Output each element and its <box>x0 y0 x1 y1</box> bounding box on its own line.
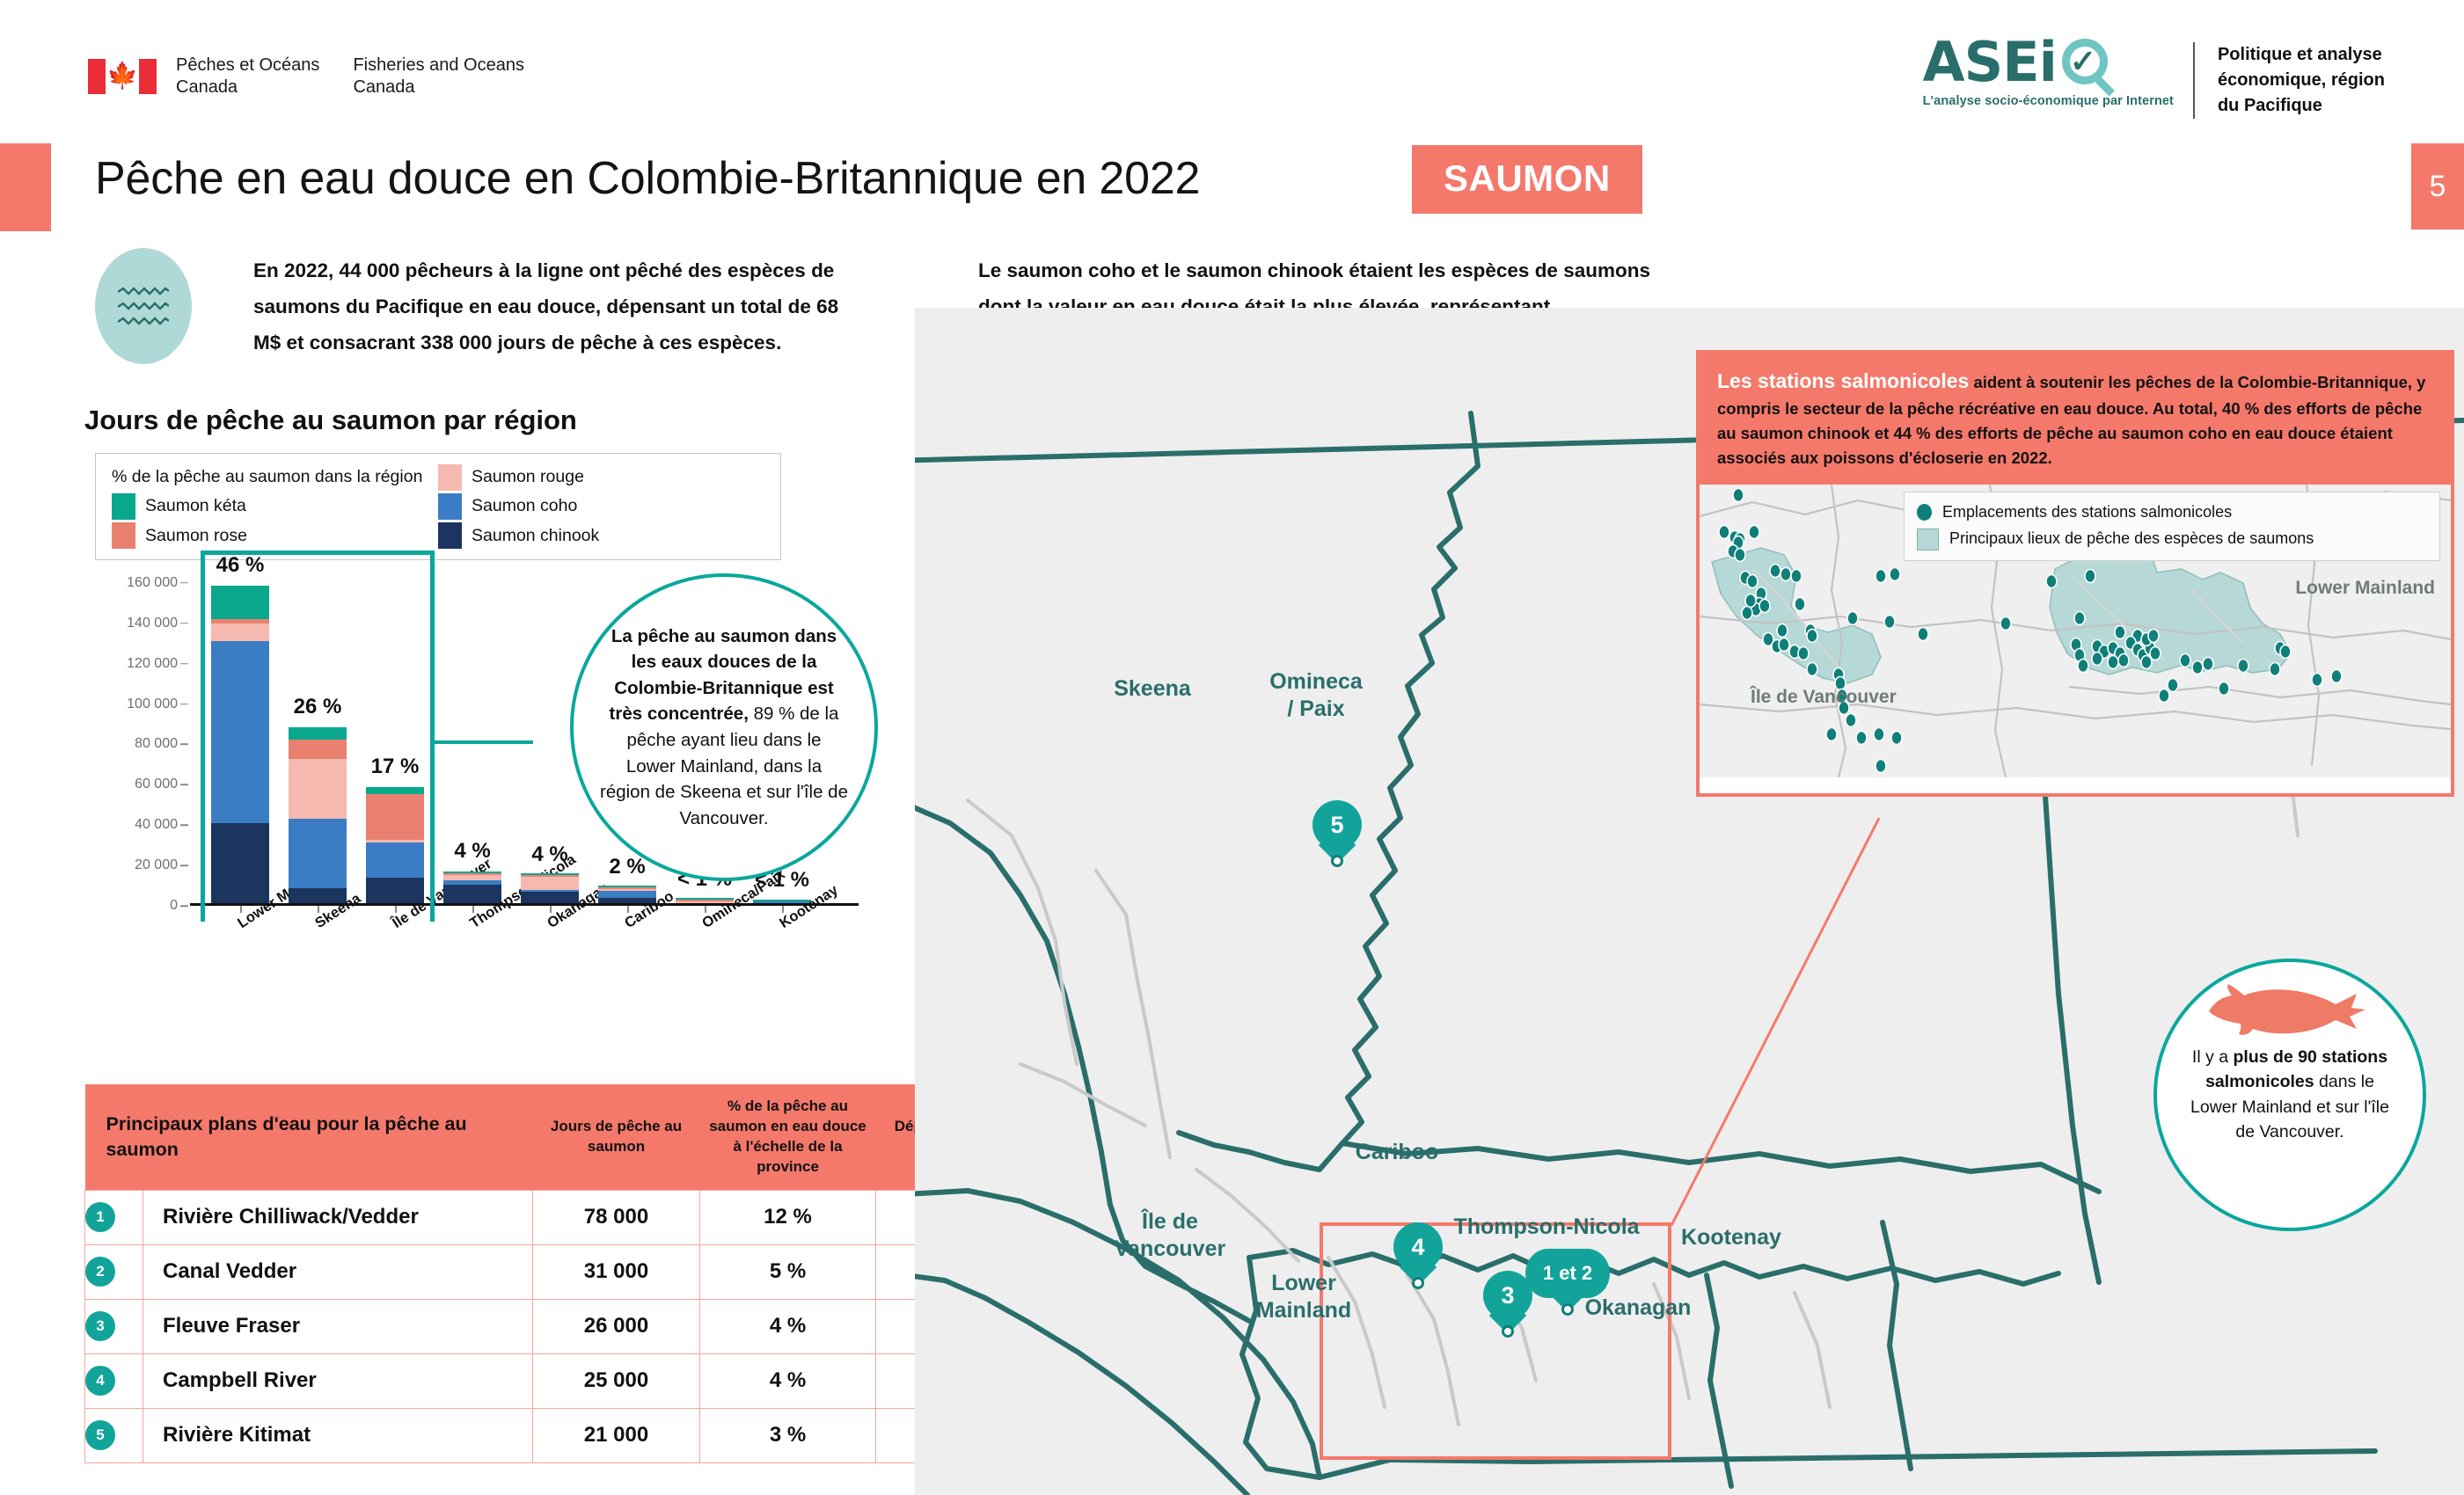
fishing-area-swatch <box>1917 529 1939 551</box>
table-cell-days: 78 000 <box>533 1190 700 1244</box>
table-cell-name: Campbell River <box>143 1353 533 1408</box>
legend-swatch-icon <box>112 493 135 520</box>
table-cell-percent: 4 % <box>700 1353 876 1408</box>
bar-3 <box>443 871 501 903</box>
legend-swatch-icon <box>438 464 462 491</box>
map-region-label: Thompson-Nicola <box>1441 1214 1652 1241</box>
map-location-pin: 5 <box>1312 800 1362 867</box>
x-axis-tick <box>627 906 629 913</box>
legend-item-label: Saumon rose <box>145 526 247 546</box>
y-axis-tick <box>180 623 188 624</box>
bar-segment <box>521 877 579 890</box>
y-axis-tick-label: 160 000 <box>127 575 178 591</box>
wave-line-icon <box>118 287 169 295</box>
legend-item-2: Saumon rouge <box>438 464 764 491</box>
legend-item-0: Saumon kéta <box>112 493 438 520</box>
legend-swatch-icon <box>112 522 135 549</box>
wave-line-icon <box>118 317 169 325</box>
table-cell-percent: 5 % <box>700 1244 876 1299</box>
map-location-pin: 4 <box>1393 1222 1443 1289</box>
wave-line-icon <box>118 302 169 310</box>
intro-paragraph-left: En 2022, 44 000 pêcheurs à la ligne ont … <box>253 253 852 361</box>
hatchery-legend-area-label: Principaux lieux de pêche des espèces de… <box>1949 529 2314 550</box>
legend-item-label: Saumon kéta <box>145 496 246 516</box>
table-header-main: Principaux plans d'eau pour la pêche au … <box>85 1084 533 1190</box>
table-row: 3Fleuve Fraser26 0004 %4,2 M$ <box>85 1299 1043 1353</box>
infographic-page: 🍁 Pêches et OcéansCanada Fisheries and O… <box>0 0 2464 1495</box>
title-accent-tab <box>0 143 51 231</box>
hatchery-dot-icon <box>1917 504 1932 521</box>
legend-item-4: Saumon chinook <box>438 522 764 549</box>
table-cell-days: 26 000 <box>533 1299 700 1353</box>
table-row: 4Campbell River25 0004 %4,4 M$ <box>85 1353 1043 1408</box>
inset-label-lower-mainland: Lower Mainland <box>2295 578 2435 599</box>
legend-item-label: Saumon chinook <box>472 526 599 546</box>
y-axis-tick <box>180 744 188 746</box>
y-axis-tick-label: 80 000 <box>135 736 178 752</box>
x-axis-tick <box>782 906 784 913</box>
table-row: 5Rivière Kitimat21 0003 %4,5 M$ <box>85 1408 1043 1462</box>
map-pin-icon: 5 <box>85 1420 143 1450</box>
department-policy-unit: Politique et analyse économique, région … <box>2193 42 2385 119</box>
table-row: 1Rivière Chilliwack/Vedder78 00012 %10 M… <box>85 1190 1043 1244</box>
map-region-label: Omineca/ Paix <box>1210 668 1422 722</box>
fish-callout-l1: Il y a <box>2192 1047 2234 1067</box>
map-pin-icon: 4 <box>85 1366 143 1396</box>
y-axis-tick <box>180 864 188 866</box>
department-name-en: Fisheries and OceansCanada <box>353 55 524 98</box>
magnifier-check-icon: ✓ <box>2058 35 2113 90</box>
y-axis-tick-label: 100 000 <box>127 696 178 712</box>
map-region-label: LowerMainland <box>1198 1270 1409 1324</box>
table-cell-name: Rivière Kitimat <box>143 1408 533 1462</box>
table-row-pin: 1 <box>85 1190 143 1244</box>
table-header-days: Jours de pêche au saumon <box>533 1084 700 1190</box>
map-pin-icon: 3 <box>85 1311 143 1341</box>
y-axis-tick-label: 20 000 <box>135 857 178 873</box>
y-axis-tick-label: 120 000 <box>127 656 178 672</box>
table-header-row: Principaux plans d'eau pour la pêche au … <box>85 1084 1043 1190</box>
chart-callout-connector <box>435 740 533 744</box>
table-row-pin: 3 <box>85 1299 143 1353</box>
legend-item-3: Saumon coho <box>438 493 764 520</box>
table-row-pin: 5 <box>85 1408 143 1462</box>
table-cell-percent: 4 % <box>700 1299 876 1353</box>
legend-item-1: Saumon rose <box>112 522 438 549</box>
x-axis-tick <box>705 906 706 913</box>
table-cell-name: Canal Vedder <box>143 1244 533 1299</box>
map-region-label: Kootenay <box>1626 1224 1837 1251</box>
table-cell-name: Rivière Chilliwack/Vedder <box>143 1190 533 1244</box>
canada-flag-icon: 🍁 <box>88 59 157 94</box>
table-cell-days: 31 000 <box>533 1244 700 1299</box>
aseiq-tagline: L'analyse socio-économique par Internet <box>1923 94 2174 108</box>
y-axis-tick <box>180 582 188 584</box>
map-region-label: Cariboo <box>1291 1139 1503 1166</box>
y-axis-tick-label: 40 000 <box>135 817 178 833</box>
chart-legend: % de la pêche au saumon dans la régionSa… <box>95 453 781 560</box>
y-axis-tick-label: 140 000 <box>127 616 178 631</box>
page-title: Pêche en eau douce en Colombie-Britanniq… <box>95 152 1200 205</box>
legend-percent-note: % de la pêche au saumon dans la région <box>112 467 438 487</box>
y-axis-tick <box>180 663 188 665</box>
waterbodies-table: Principaux plans d'eau pour la pêche au … <box>84 1084 1043 1463</box>
table-cell-days: 21 000 <box>533 1408 700 1462</box>
table-row: 2Canal Vedder31 0005 %4,2 M$ <box>85 1244 1043 1299</box>
water-waves-icon <box>95 248 192 364</box>
y-axis-tick <box>180 824 188 826</box>
chart-y-axis: 020 00040 00060 00080 000100 000120 0001… <box>84 563 188 906</box>
map-region-label: Île deVancouver <box>1064 1208 1276 1262</box>
aseiq-wordmark: ASEi <box>1923 35 2057 90</box>
species-badge: SAUMON <box>1412 145 1642 214</box>
table-cell-percent: 12 % <box>700 1190 876 1244</box>
legend-swatch-icon <box>438 522 462 549</box>
chart-title: Jours de pêche au saumon par région <box>84 405 577 436</box>
hatchery-legend-dot-label: Emplacements des stations salmonicoles <box>1942 502 2232 523</box>
hatchery-headline: Les stations salmonicoles <box>1717 369 1969 392</box>
hatchery-inset-text: Les stations salmonicoles aident à soute… <box>1700 354 2451 485</box>
salmon-fish-icon <box>2202 981 2378 1036</box>
legend-item-label: Saumon rouge <box>472 467 584 487</box>
legend-swatch-icon <box>438 493 462 520</box>
table-row-pin: 4 <box>85 1353 143 1408</box>
legend-item-label: Saumon coho <box>472 496 577 516</box>
y-axis-tick-label: 60 000 <box>135 777 178 792</box>
table-cell-days: 25 000 <box>533 1353 700 1408</box>
chart-highlight-box <box>201 551 435 922</box>
table-header-pct: % de la pêche au saumon en eau douce à l… <box>700 1084 876 1190</box>
hatchery-map-legend: Emplacements des stations salmonicoles P… <box>1904 492 2440 561</box>
y-axis-tick-label: 0 <box>170 898 178 914</box>
bar-segment <box>598 891 656 898</box>
department-name-fr: Pêches et OcéansCanada <box>176 55 319 98</box>
map-pin-icon: 2 <box>85 1257 143 1287</box>
map-zoom-rectangle <box>1320 1222 1671 1460</box>
chart-callout-bubble: La pêche au saumon dans les eaux douces … <box>570 573 878 881</box>
x-axis-tick <box>472 906 474 913</box>
page-number: 5 <box>2411 143 2464 230</box>
hatchery-count-bubble: Il y a plus de 90 stations salmonicoles … <box>2153 959 2426 1231</box>
y-axis-tick <box>180 784 188 786</box>
table-cell-percent: 3 % <box>700 1408 876 1462</box>
aseiq-logo: ASEi ✓ L'analyse socio-économique par In… <box>1923 35 2174 108</box>
x-axis-tick <box>550 906 552 913</box>
y-axis-tick <box>180 704 188 705</box>
map-pin-icon: 1 <box>85 1202 143 1232</box>
hatchery-map: Emplacements des stations salmonicoles P… <box>1700 485 2451 777</box>
table-row-pin: 2 <box>85 1244 143 1299</box>
inset-label-vancouver-island: Île de Vancouver <box>1751 687 1897 708</box>
table-cell-name: Fleuve Fraser <box>143 1299 533 1353</box>
y-axis-tick <box>180 905 188 907</box>
government-of-canada-logo: 🍁 Pêches et OcéansCanada Fisheries and O… <box>88 55 524 98</box>
map-location-pin: 1 et 2 <box>1525 1249 1610 1316</box>
hatchery-inset-panel: Les stations salmonicoles aident à soute… <box>1696 350 2454 797</box>
